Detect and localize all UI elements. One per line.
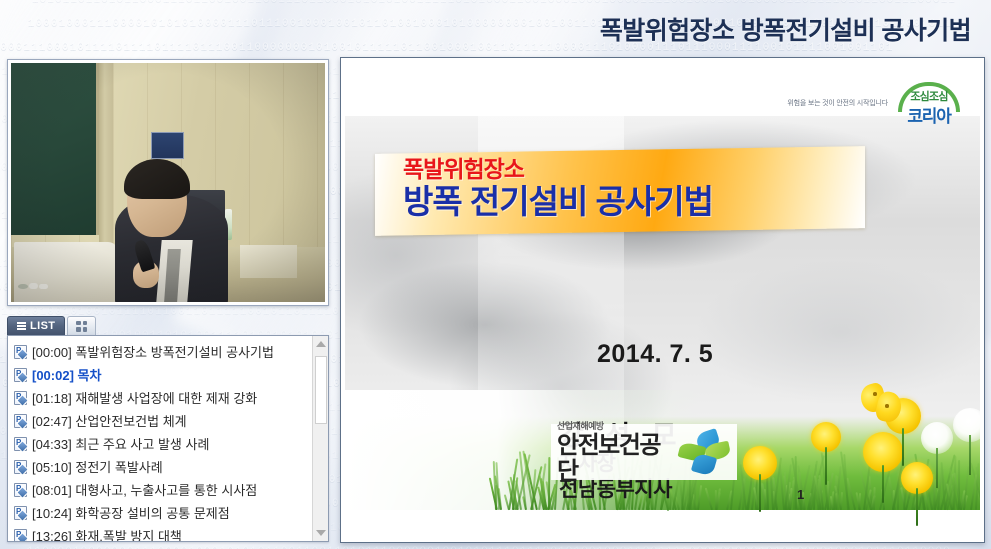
kosha-logo: 산업재해예방 안전보건공단 <box>551 424 737 480</box>
playlist-panel: LIST [00:00] 폭발위험장소 방폭전기설비 공사기법[00:02] 목… <box>7 316 329 542</box>
grid-icon <box>76 321 87 332</box>
app-header: 폭발위험장소 방폭전기설비 공사기법 <box>0 0 991 50</box>
kosha-subtitle: 산업재해예방 <box>557 419 677 432</box>
list-item-label: [13:26] 화재,폭발 방지 대책 <box>32 526 182 541</box>
list-item[interactable]: [08:01] 대형사고, 누출사고를 통한 시사점 <box>12 478 312 501</box>
dandelion-seedhead <box>953 408 980 442</box>
scroll-down-button[interactable] <box>313 525 329 541</box>
powerpoint-file-icon <box>14 414 27 428</box>
list-item-label: [00:02] 목차 <box>32 365 101 384</box>
video-player-panel[interactable] <box>7 59 329 306</box>
playlist-items: [00:00] 폭발위험장소 방폭전기설비 공사기법[00:02] 목차[01:… <box>8 336 312 541</box>
scrollbar-thumb[interactable] <box>315 356 327 424</box>
playlist-scrollbar[interactable] <box>312 336 328 541</box>
tab-list[interactable]: LIST <box>7 316 65 335</box>
butterfly-spot <box>873 392 877 396</box>
chevron-down-icon <box>316 530 326 536</box>
scroll-up-button[interactable] <box>313 336 329 352</box>
video-stage[interactable] <box>11 63 325 302</box>
tab-list-label: LIST <box>30 320 55 332</box>
powerpoint-file-icon <box>14 368 27 382</box>
banner-line-1: 폭발위험장소 <box>403 156 865 182</box>
list-item-label: [05:10] 정전기 폭발사례 <box>32 457 163 476</box>
powerpoint-file-icon <box>14 529 27 542</box>
tab-thumbnails[interactable] <box>67 316 96 335</box>
video-vignette <box>11 63 325 302</box>
kosha-title: 안전보건공단 <box>557 433 677 485</box>
kosha-symbol-icon <box>677 429 731 475</box>
kosha-text: 산업재해예방 안전보건공단 <box>557 419 677 485</box>
list-item[interactable]: [10:24] 화학공장 설비의 공통 문제점 <box>12 501 312 524</box>
dandelion-flower <box>901 462 933 494</box>
grass-blade <box>873 486 876 510</box>
powerpoint-file-icon <box>14 437 27 451</box>
list-item[interactable]: [00:02] 목차 <box>12 363 312 386</box>
list-item-label: [01:18] 재해발생 사업장에 대한 제재 강화 <box>32 388 257 407</box>
list-item-label: [04:33] 최근 주요 사고 발생 사례 <box>32 434 209 453</box>
list-item[interactable]: [04:33] 최근 주요 사고 발생 사례 <box>12 432 312 455</box>
slide-viewer-panel[interactable]: 위험을 보는 것이 안전의 시작입니다 조심조심 코리아 폭발위험장소 방폭 전… <box>340 57 985 543</box>
powerpoint-file-icon <box>14 391 27 405</box>
grass-blade <box>715 490 717 510</box>
dandelion-seedhead <box>921 422 953 454</box>
slide-content: 위험을 보는 것이 안전의 시작입니다 조심조심 코리아 폭발위험장소 방폭 전… <box>345 62 980 538</box>
powerpoint-file-icon <box>14 460 27 474</box>
list-item-label: [02:47] 산업안전보건법 체계 <box>32 411 187 430</box>
logo-mark: 조심조심 코리아 <box>896 82 962 124</box>
page-title: 폭발위험장소 방폭전기설비 공사기법 <box>600 11 971 47</box>
powerpoint-file-icon <box>14 483 27 497</box>
list-item-label: [08:01] 대형사고, 누출사고를 통한 시사점 <box>32 480 257 499</box>
list-item-label: [10:24] 화학공장 설비의 공통 문제점 <box>32 503 230 522</box>
powerpoint-file-icon <box>14 506 27 520</box>
list-item-label: [00:00] 폭발위험장소 방폭전기설비 공사기법 <box>32 342 274 361</box>
chevron-up-icon <box>316 341 326 347</box>
grass-blade <box>548 457 550 510</box>
list-icon <box>17 322 26 330</box>
banner-line-2: 방폭 전기설비 공사기법 <box>403 182 865 222</box>
dandelion-flower <box>743 446 777 480</box>
slide-page-number: 1 <box>797 487 804 502</box>
josim-korea-logo: 위험을 보는 것이 안전의 시작입니다 조심조심 코리아 <box>787 82 962 124</box>
list-item[interactable]: [02:47] 산업안전보건법 체계 <box>12 409 312 432</box>
list-item[interactable]: [13:26] 화재,폭발 방지 대책 <box>12 524 312 541</box>
player-window: 1010110110101100011101100100110011101100… <box>0 0 991 549</box>
dandelion-flower <box>811 422 841 452</box>
logo-line2: 코리아 <box>896 102 962 127</box>
dandelion-flower <box>863 432 903 472</box>
slide-date: 2014. 7. 5 <box>597 340 713 369</box>
logo-tagline: 위험을 보는 것이 안전의 시작입니다 <box>787 98 888 108</box>
butterfly <box>861 382 903 426</box>
slide-title-banner: 폭발위험장소 방폭 전기설비 공사기법 <box>375 146 865 236</box>
playlist-tabs: LIST <box>7 316 329 335</box>
list-item[interactable]: [05:10] 정전기 폭발사례 <box>12 455 312 478</box>
playlist-box: [00:00] 폭발위험장소 방폭전기설비 공사기법[00:02] 목차[01:… <box>7 335 329 542</box>
butterfly-spot <box>885 404 889 408</box>
list-item[interactable]: [01:18] 재해발생 사업장에 대한 제재 강화 <box>12 386 312 409</box>
powerpoint-file-icon <box>14 345 27 359</box>
list-item[interactable]: [00:00] 폭발위험장소 방폭전기설비 공사기법 <box>12 340 312 363</box>
